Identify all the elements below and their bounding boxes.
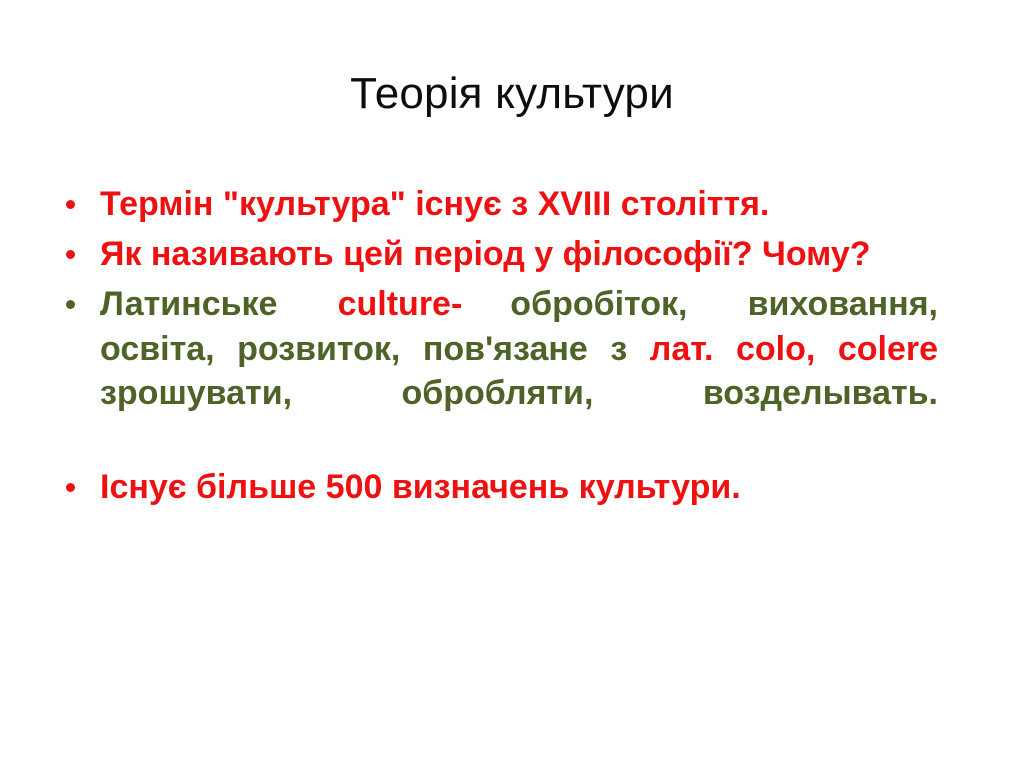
bullet-4-text: Існує більше 500 визначень культури. (100, 468, 741, 506)
bullet-list: Термін "культура" існує з XVIII століття… (58, 182, 938, 509)
bullet-2-text: Як називають цей період у філософії? Чом… (100, 235, 871, 273)
list-item: Існує більше 500 визначень культури. (58, 465, 938, 509)
bullet-3-run-1: Латинське (100, 285, 338, 323)
bullet-dot-icon (66, 200, 75, 209)
list-item: Латинське culture-обробіток, виховання, … (58, 282, 938, 459)
list-item: Термін "культура" існує з XVIII століття… (58, 182, 938, 226)
bullet-dot-icon (66, 300, 75, 309)
slide: Теорія культури Термін "культура" існує … (0, 0, 1024, 768)
bullet-dot-icon (66, 483, 75, 492)
bullet-dot-icon (66, 250, 75, 259)
bullet-3-run-2: culture- (338, 285, 463, 323)
list-item: Як називають цей період у філософії? Чом… (58, 232, 938, 276)
bullet-1-text: Термін "культура" існує з XVIII століття… (100, 185, 769, 223)
bullet-3-run-4: лат. colo, colere (650, 330, 938, 368)
bullet-3-run-5: зрошувати, обробляти, возделывать. (100, 374, 938, 412)
page-title: Теорія культури (0, 70, 1024, 118)
